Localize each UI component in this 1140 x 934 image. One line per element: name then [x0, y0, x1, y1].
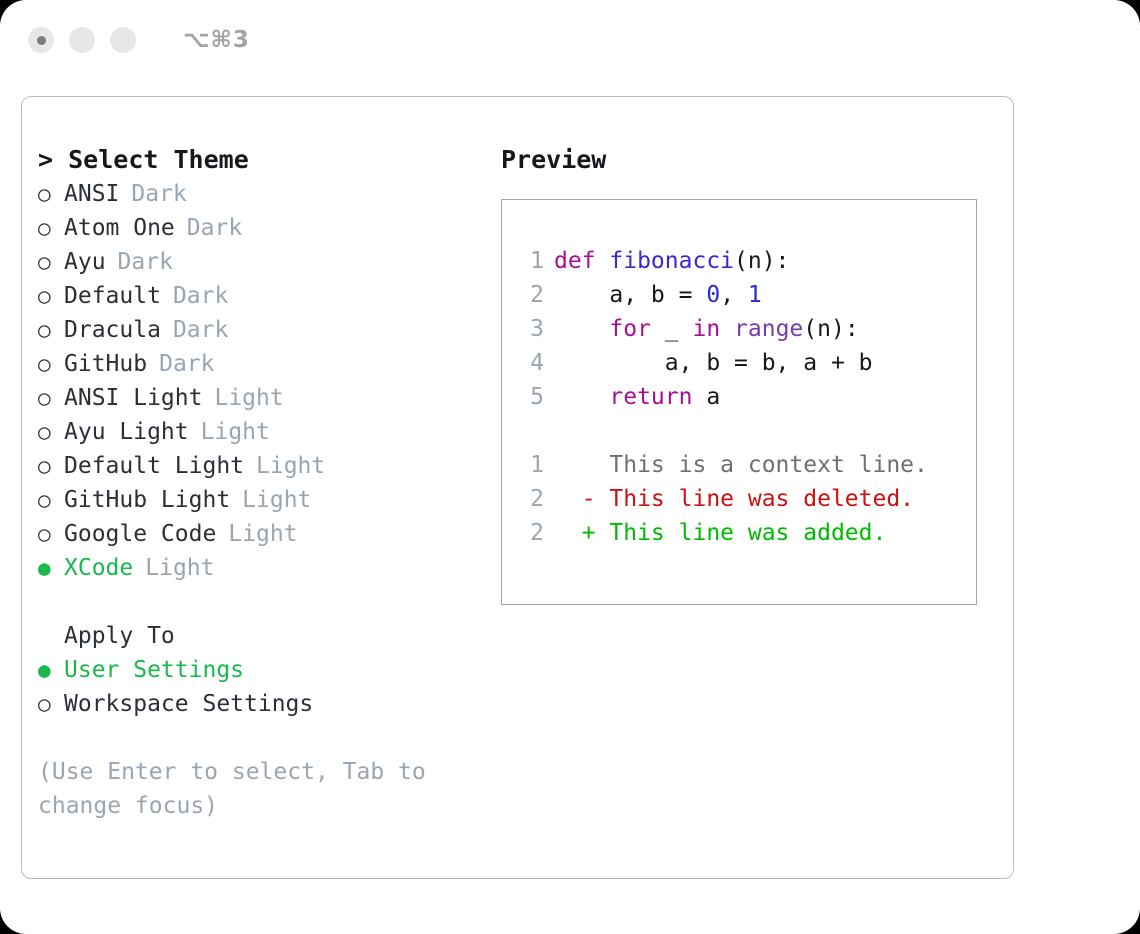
code-line-text: def fibonacci(n):	[554, 244, 789, 278]
theme-option-ansi[interactable]: ○ANSIDark	[38, 177, 493, 211]
theme-option-github[interactable]: ○GitHubDark	[38, 347, 493, 381]
theme-option-github-light[interactable]: ○GitHub LightLight	[38, 483, 493, 517]
apply-to-option-user-settings[interactable]: ●User Settings	[38, 653, 493, 687]
theme-option-kind-badge: Dark	[173, 313, 228, 347]
apply-to-option-list: ●User Settings○Workspace Settings	[38, 653, 493, 721]
apply-to-section: Apply To ●User Settings○Workspace Settin…	[38, 619, 493, 721]
code-token: _	[651, 316, 693, 342]
radio-unselected-icon: ○	[38, 279, 64, 313]
code-token: (n):	[734, 248, 789, 274]
preview-box: 1def fibonacci(n):2 a, b = 0, 13 for _ i…	[501, 199, 977, 605]
code-line: 2 a, b = 0, 1	[514, 278, 966, 312]
radio-unselected-icon: ○	[38, 517, 64, 551]
theme-option-label: GitHub Light	[64, 483, 230, 517]
window-titlebar: ⌥⌘3	[0, 0, 1140, 80]
diff-line-text: This is a context line.	[554, 448, 928, 482]
code-sample: 1def fibonacci(n):2 a, b = 0, 13 for _ i…	[514, 244, 966, 550]
theme-option-label: Google Code	[64, 517, 216, 551]
radio-unselected-icon: ○	[38, 245, 64, 279]
diff-line-number: 1	[514, 448, 544, 482]
panel-columns: > Select Theme ○ANSIDark○Atom OneDark○Ay…	[22, 97, 1013, 878]
code-line: 5 return a	[514, 380, 966, 414]
theme-option-label: ANSI	[64, 177, 119, 211]
code-line: 4 a, b = b, a + b	[514, 346, 966, 380]
code-token	[554, 384, 609, 410]
theme-option-label: Ayu Light	[64, 415, 189, 449]
radio-unselected-icon: ○	[38, 347, 64, 381]
theme-option-ayu-light[interactable]: ○Ayu LightLight	[38, 415, 493, 449]
theme-option-ansi-light[interactable]: ○ANSI LightLight	[38, 381, 493, 415]
radio-selected-icon: ●	[38, 653, 64, 687]
theme-option-dracula[interactable]: ○DraculaDark	[38, 313, 493, 347]
diff-line: 2 + This line was added.	[514, 516, 966, 550]
radio-unselected-icon: ○	[38, 483, 64, 517]
code-token	[720, 316, 734, 342]
preview-spacer	[514, 414, 966, 448]
theme-option-kind-badge: Light	[228, 517, 297, 551]
close-dot-icon	[37, 36, 46, 45]
radio-unselected-icon: ○	[38, 415, 64, 449]
radio-unselected-icon: ○	[38, 313, 64, 347]
theme-option-label: ANSI Light	[64, 381, 202, 415]
theme-option-google-code[interactable]: ○Google CodeLight	[38, 517, 493, 551]
diff-line-number: 2	[514, 516, 544, 550]
apply-to-heading: Apply To	[38, 619, 493, 653]
theme-option-kind-badge: Dark	[173, 279, 228, 313]
code-token: a	[692, 384, 720, 410]
apply-to-option-workspace-settings[interactable]: ○Workspace Settings	[38, 687, 493, 721]
code-token: 1	[748, 282, 762, 308]
apply-to-option-label: User Settings	[64, 653, 244, 687]
code-line-text: a, b = b, a + b	[554, 346, 873, 380]
theme-option-default[interactable]: ○DefaultDark	[38, 279, 493, 313]
diff-line-text: + This line was added.	[554, 516, 886, 550]
theme-option-ayu[interactable]: ○AyuDark	[38, 245, 493, 279]
theme-picker-panel: > Select Theme ○ANSIDark○Atom OneDark○Ay…	[21, 96, 1014, 879]
select-theme-label: Select Theme	[68, 145, 249, 174]
theme-option-kind-badge: Light	[242, 483, 311, 517]
prompt-caret-icon: >	[38, 145, 53, 174]
code-token: a, b = b, a + b	[554, 350, 873, 376]
theme-option-kind-badge: Dark	[159, 347, 214, 381]
theme-option-kind-badge: Dark	[131, 177, 186, 211]
theme-option-kind-badge: Light	[256, 449, 325, 483]
minimize-button[interactable]	[69, 27, 95, 53]
keyboard-hint-text: (Use Enter to select, Tab to change focu…	[38, 755, 458, 823]
theme-option-kind-badge: Light	[145, 551, 214, 585]
code-token: ,	[720, 282, 748, 308]
diff-line-number: 2	[514, 482, 544, 516]
diff-line-text: - This line was deleted.	[554, 482, 914, 516]
theme-option-kind-badge: Light	[214, 381, 283, 415]
preview-column: Preview 1def fibonacci(n):2 a, b = 0, 13…	[501, 143, 991, 605]
zoom-button[interactable]	[110, 27, 136, 53]
code-line: 1def fibonacci(n):	[514, 244, 966, 278]
theme-option-label: Default Light	[64, 449, 244, 483]
theme-option-atom-one[interactable]: ○Atom OneDark	[38, 211, 493, 245]
code-token	[554, 316, 609, 342]
line-number: 4	[514, 346, 544, 380]
code-token: in	[692, 316, 720, 342]
close-button[interactable]	[28, 27, 54, 53]
code-token: range	[734, 316, 803, 342]
line-number: 1	[514, 244, 544, 278]
radio-unselected-icon: ○	[38, 449, 64, 483]
radio-unselected-icon: ○	[38, 211, 64, 245]
radio-selected-icon: ●	[38, 551, 64, 585]
code-line-text: a, b = 0, 1	[554, 278, 762, 312]
theme-option-label: Atom One	[64, 211, 175, 245]
line-number: 3	[514, 312, 544, 346]
code-line-text: return a	[554, 380, 720, 414]
theme-option-label: Default	[64, 279, 161, 313]
diff-line: 1 This is a context line.	[514, 448, 966, 482]
theme-option-label: Dracula	[64, 313, 161, 347]
code-token: a, b =	[554, 282, 706, 308]
code-token: (n):	[803, 316, 858, 342]
code-token: for	[609, 316, 651, 342]
preview-heading: Preview	[501, 143, 991, 177]
code-token: return	[609, 384, 692, 410]
app-window: ⌥⌘3 > Select Theme ○ANSIDark○Atom OneDar…	[0, 0, 1140, 934]
radio-unselected-icon: ○	[38, 381, 64, 415]
code-token: fibonacci	[609, 248, 734, 274]
line-number: 5	[514, 380, 544, 414]
theme-selector-column: > Select Theme ○ANSIDark○Atom OneDark○Ay…	[38, 143, 493, 823]
code-line: 3 for _ in range(n):	[514, 312, 966, 346]
code-token: 0	[706, 282, 720, 308]
keyboard-shortcut-label: ⌥⌘3	[183, 27, 250, 53]
theme-option-kind-badge: Dark	[118, 245, 173, 279]
line-number: 2	[514, 278, 544, 312]
diff-line: 2 - This line was deleted.	[514, 482, 966, 516]
theme-option-default-light[interactable]: ○Default LightLight	[38, 449, 493, 483]
theme-option-kind-badge: Dark	[187, 211, 242, 245]
radio-unselected-icon: ○	[38, 177, 64, 211]
theme-option-label: Ayu	[64, 245, 106, 279]
code-token: def	[554, 248, 609, 274]
theme-option-xcode[interactable]: ●XCodeLight	[38, 551, 493, 585]
theme-option-kind-badge: Light	[201, 415, 270, 449]
radio-unselected-icon: ○	[38, 687, 64, 721]
apply-to-option-label: Workspace Settings	[64, 687, 313, 721]
theme-option-label: GitHub	[64, 347, 147, 381]
theme-option-label: XCode	[64, 551, 133, 585]
theme-list: ○ANSIDark○Atom OneDark○AyuDark○DefaultDa…	[38, 177, 493, 585]
select-theme-heading: > Select Theme	[38, 143, 493, 177]
code-line-text: for _ in range(n):	[554, 312, 859, 346]
